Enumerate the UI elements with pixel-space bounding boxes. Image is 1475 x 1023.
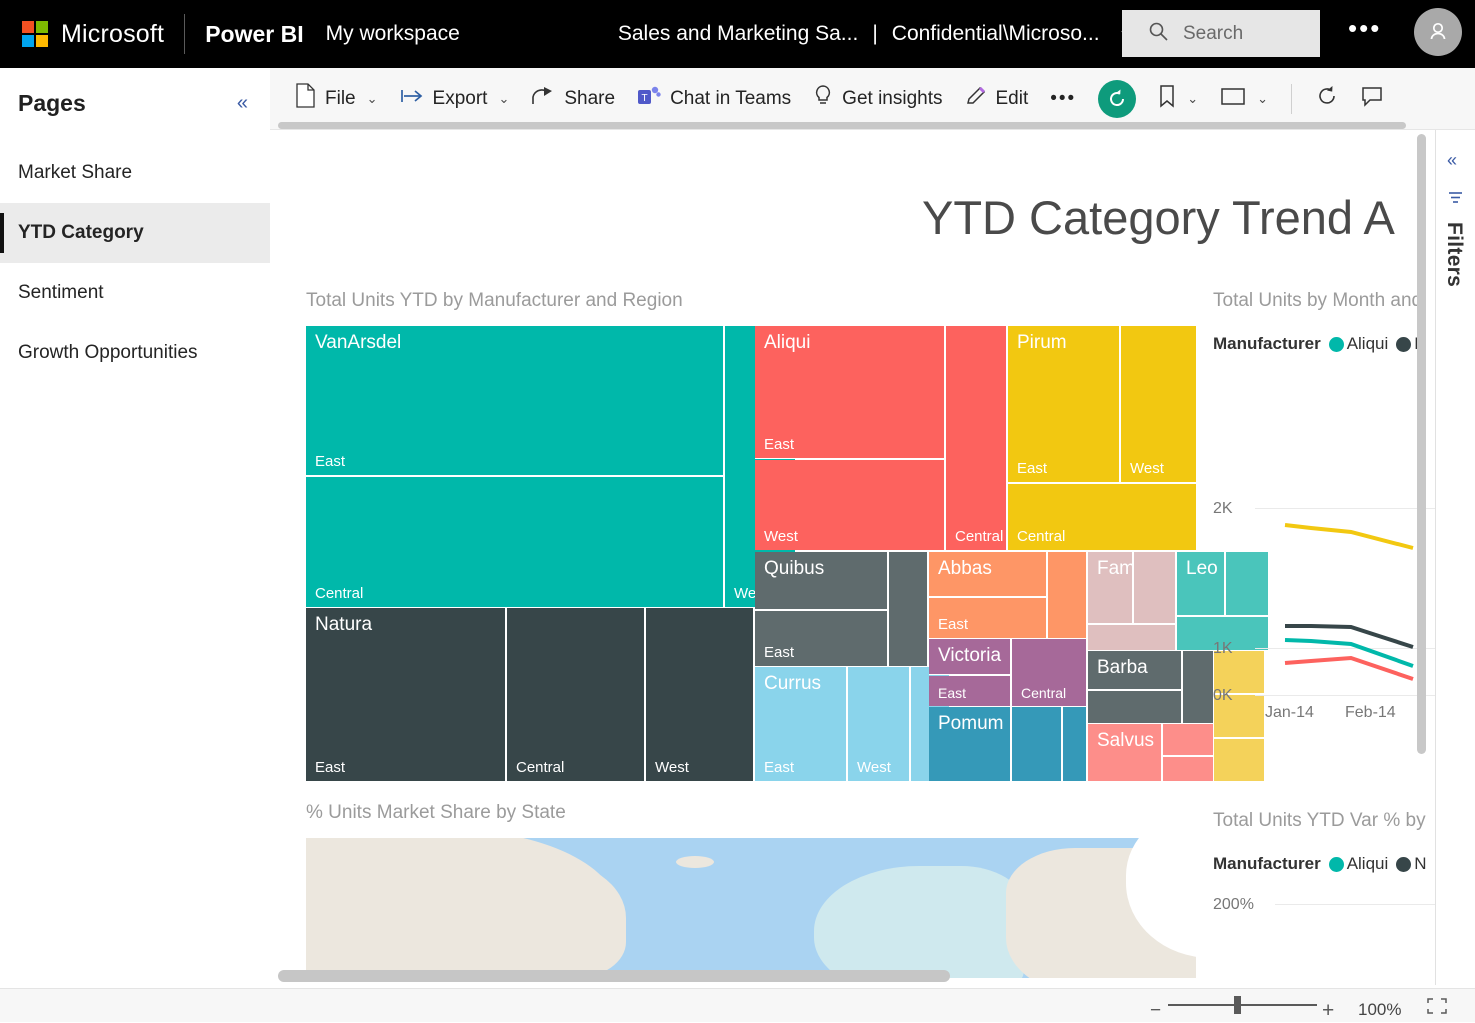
treemap-cell-fama-a[interactable]: Fama <box>1088 552 1133 624</box>
microsoft-brand-label: Microsoft <box>61 20 164 49</box>
treemap-cell-barba-a[interactable]: Barba <box>1088 651 1182 690</box>
chevron-down-icon[interactable]: ⌄ <box>1257 91 1268 107</box>
reset-button[interactable] <box>1087 68 1147 130</box>
treemap-cell-barba-c[interactable] <box>1183 651 1213 723</box>
pages-title: Pages <box>18 90 86 117</box>
treemap-cell-abbas-top[interactable]: Abbas <box>929 552 1047 597</box>
file-label: File <box>325 88 356 110</box>
search-input[interactable]: Search <box>1122 10 1320 57</box>
view-mode-button[interactable]: ⌄ <box>1209 68 1279 130</box>
treemap-cell-quibus-top[interactable]: Quibus <box>755 552 888 610</box>
treemap-group-label: Fama <box>1097 558 1133 580</box>
bookmark-icon <box>1158 84 1176 114</box>
brand-divider <box>184 14 185 54</box>
top-more-options-button[interactable]: ••• <box>1348 22 1381 34</box>
treemap-cell-salvus-b[interactable] <box>1163 724 1213 756</box>
treemap-cell-victoria-east[interactable]: East <box>929 676 1011 706</box>
view-rectangle-icon <box>1220 85 1246 113</box>
treemap-cell-natura-west[interactable]: West <box>646 608 754 781</box>
treemap-region-label: East <box>938 616 968 633</box>
treemap-cell-pirum-west[interactable]: West <box>1121 326 1196 483</box>
treemap-cell-natura-central[interactable]: Central <box>507 608 645 781</box>
gridline-200pct <box>1275 904 1435 905</box>
treemap-group-label: Currus <box>764 673 821 695</box>
zoom-out-button[interactable]: − <box>1150 1000 1161 1022</box>
refresh-icon <box>1315 84 1339 114</box>
legend-item-aliqui[interactable]: Aliqui <box>1329 854 1389 874</box>
share-button[interactable]: Share <box>520 68 626 130</box>
treemap-cell-vanarsdel-east[interactable]: VanArsdel East <box>306 326 724 476</box>
landmass-island <box>676 856 714 868</box>
export-icon <box>400 87 424 111</box>
edit-button[interactable]: Edit <box>954 68 1040 130</box>
y-axis-tick-200pct: 200% <box>1213 896 1254 914</box>
treemap-plot[interactable]: VanArsdel East Central West Natura East … <box>306 326 1196 781</box>
toolbar-divider <box>1291 84 1292 114</box>
treemap-region-label: Central <box>1017 528 1065 545</box>
sidebar-item-sentiment[interactable]: Sentiment <box>0 263 270 323</box>
teams-icon: T <box>637 85 661 113</box>
treemap-cell-vanarsdel-central[interactable]: Central <box>306 477 724 607</box>
treemap-region-label: West <box>1130 460 1164 477</box>
treemap-cell-quibus-east[interactable]: East <box>755 611 888 666</box>
treemap-region-label: East <box>1017 460 1047 477</box>
treemap-group-label: VanArsdel <box>315 332 401 354</box>
treemap-cell-abbas-right[interactable] <box>1048 552 1086 638</box>
treemap-cell-currus-west[interactable]: West <box>848 667 910 781</box>
treemap-region-label: East <box>764 644 794 661</box>
treemap-region-label: East <box>764 436 794 453</box>
edit-label: Edit <box>996 88 1029 110</box>
line-chart-series <box>1213 370 1435 710</box>
filters-panel: « Filters <box>1435 130 1475 985</box>
treemap-region-label: East <box>938 685 966 701</box>
pages-header: Pages « <box>0 68 270 117</box>
sidebar-item-label: Market Share <box>18 162 132 184</box>
variance-chart-visual[interactable]: Total Units YTD Var % by Manufacturer Al… <box>1213 810 1435 948</box>
report-page: YTD Category Trend A Total Units YTD by … <box>288 142 1418 985</box>
map-title: % Units Market Share by State <box>306 802 1196 824</box>
map-plot[interactable] <box>306 838 1196 978</box>
pages-list: Market Share YTD Category Sentiment Grow… <box>0 143 270 383</box>
page-title: YTD Category Trend A <box>922 190 1395 245</box>
treemap-visual[interactable]: Total Units YTD by Manufacturer and Regi… <box>306 290 1196 781</box>
get-insights-label: Get insights <box>842 88 942 110</box>
share-label: Share <box>564 88 615 110</box>
refresh-button[interactable] <box>1304 68 1350 130</box>
treemap-cell-natura-east[interactable]: Natura East <box>306 608 506 781</box>
treemap-cell-pomum-a[interactable]: Pomum <box>929 707 1011 781</box>
microsoft-logo-icon <box>22 21 48 47</box>
get-insights-button[interactable]: Get insights <box>802 68 953 130</box>
x-axis-tick-jan14: Jan-14 <box>1265 704 1314 722</box>
treemap-cell-pirum-east[interactable]: Pirum East <box>1008 326 1120 483</box>
legend-item-label: Aliqui <box>1347 854 1389 874</box>
x-axis-tick-feb14: Feb-14 <box>1345 704 1396 722</box>
fit-to-page-button[interactable] <box>1426 997 1448 1015</box>
treemap-group-label: Victoria <box>938 645 1001 667</box>
pencil-icon <box>965 85 987 113</box>
treemap-region-label: East <box>315 759 345 776</box>
legend-swatch-icon <box>1329 337 1344 352</box>
treemap-region-label: Central <box>1021 685 1066 701</box>
export-menu-button[interactable]: Export ⌄ <box>389 68 521 130</box>
landmass-alaska <box>814 866 1024 978</box>
zoom-in-button[interactable]: + <box>1322 999 1334 1023</box>
line-chart-plot[interactable]: 2K 1K 0K Jan-14 Feb-14 <box>1213 370 1435 680</box>
chat-in-teams-label: Chat in Teams <box>670 88 791 110</box>
svg-text:T: T <box>642 93 648 104</box>
variance-chart-plot[interactable]: 200% <box>1213 888 1435 948</box>
treemap-group-label: Pirum <box>1017 332 1067 354</box>
treemap-cell-quibus-right[interactable] <box>889 552 927 666</box>
treemap-cell-fama-b[interactable] <box>1134 552 1175 624</box>
legend-item-label: N <box>1414 854 1426 874</box>
treemap-cell-pomum-c[interactable] <box>1063 707 1086 781</box>
report-toolbar: File ⌄ Export ⌄ Share T Chat in Teams Ge… <box>270 68 1475 130</box>
bookmarks-button[interactable]: ⌄ <box>1147 68 1209 130</box>
canvas-vertical-scrollbar[interactable] <box>1417 134 1426 754</box>
treemap-region-label: Central <box>315 585 363 602</box>
treemap-group-label: Salvus <box>1097 730 1154 752</box>
treemap-cell-fama-c[interactable] <box>1088 625 1175 650</box>
treemap-cell-aliqui-east[interactable]: Aliqui East <box>755 326 945 459</box>
sidebar-item-label: YTD Category <box>18 222 144 244</box>
treemap-cell-salvus-a[interactable]: Salvus <box>1088 724 1162 781</box>
toolbar-scrollbar[interactable] <box>278 122 1406 129</box>
zoom-level-label: 100% <box>1358 1000 1401 1020</box>
treemap-cell-aliqui-central[interactable]: Central <box>946 326 1006 550</box>
search-placeholder: Search <box>1183 23 1243 45</box>
export-label: Export <box>433 88 488 110</box>
treemap-cell-pomum-b[interactable] <box>1012 707 1062 781</box>
treemap-region-label: Central <box>955 528 1003 545</box>
sidebar-item-market-share[interactable]: Market Share <box>0 143 270 203</box>
filter-icon <box>1448 190 1465 210</box>
title-separator: | <box>872 22 877 46</box>
map-visual[interactable]: % Units Market Share by State <box>306 802 1196 978</box>
top-navigation-bar: Microsoft Power BI My workspace Sales an… <box>0 0 1475 68</box>
treemap-region-label: East <box>764 759 794 776</box>
treemap-cell-victoria-central[interactable]: Central <box>1012 639 1086 706</box>
more-dots-icon: ••• <box>1050 88 1076 110</box>
treemap-region-label: West <box>764 528 798 545</box>
variance-chart-legend[interactable]: Manufacturer Aliqui N <box>1213 854 1435 874</box>
treemap-group-label: Abbas <box>938 558 992 580</box>
line-chart-visual[interactable]: Total Units by Month and Manufacturer Al… <box>1213 290 1435 680</box>
pages-sidebar: Pages « Market Share YTD Category Sentim… <box>0 68 270 1022</box>
treemap-group-label: Barba <box>1097 657 1148 679</box>
zoom-slider-thumb[interactable] <box>1234 996 1241 1014</box>
treemap-cell-pirum-central[interactable]: Central <box>1008 484 1196 550</box>
legend-swatch-icon <box>1396 857 1411 872</box>
report-title-label[interactable]: Sales and Marketing Sa... <box>618 22 858 46</box>
treemap-region-label: West <box>655 759 689 776</box>
toolbar-more-options-button[interactable]: ••• <box>1039 68 1087 130</box>
treemap-group-label: Pomum <box>938 713 1003 735</box>
line-chart-legend[interactable]: Manufacturer Aliqui N <box>1213 334 1435 354</box>
treemap-title: Total Units YTD by Manufacturer and Regi… <box>306 290 1196 312</box>
legend-item-label: Aliqui <box>1347 334 1389 354</box>
zoom-slider-track[interactable] <box>1168 1004 1317 1006</box>
variance-chart-title: Total Units YTD Var % by <box>1213 810 1435 832</box>
sidebar-item-label: Growth Opportunities <box>18 342 198 364</box>
legend-item-aliqui[interactable]: Aliqui <box>1329 334 1389 354</box>
treemap-cell-abbas-east[interactable]: East <box>929 598 1047 638</box>
sidebar-item-ytd-category[interactable]: YTD Category <box>0 203 270 263</box>
treemap-cell-salvus-c[interactable] <box>1163 757 1213 781</box>
legend-title: Manufacturer <box>1213 854 1321 874</box>
sidebar-item-label: Sentiment <box>18 282 104 304</box>
line-chart-title: Total Units by Month and <box>1213 290 1435 312</box>
canvas-horizontal-scrollbar[interactable] <box>278 970 950 982</box>
treemap-group-label: Natura <box>315 614 372 636</box>
lightbulb-icon <box>813 84 833 114</box>
filters-label: Filters <box>1442 222 1466 287</box>
search-icon <box>1148 21 1169 47</box>
user-avatar[interactable] <box>1414 8 1462 56</box>
treemap-cell-extra-c[interactable] <box>1214 739 1264 781</box>
legend-title: Manufacturer <box>1213 334 1321 354</box>
share-icon <box>531 86 555 112</box>
expand-filters-button[interactable]: « <box>1447 150 1457 171</box>
chat-in-teams-button[interactable]: T Chat in Teams <box>626 68 802 130</box>
treemap-region-label: Central <box>516 759 564 776</box>
report-canvas: YTD Category Trend A Total Units YTD by … <box>270 130 1435 985</box>
legend-swatch-icon <box>1396 337 1411 352</box>
file-icon <box>295 83 316 114</box>
treemap-cell-aliqui-west[interactable]: West <box>755 460 945 550</box>
treemap-cell-barba-b[interactable] <box>1088 691 1182 723</box>
sidebar-item-growth-opportunities[interactable]: Growth Opportunities <box>0 323 270 383</box>
treemap-region-label: East <box>315 453 345 470</box>
treemap-group-label: Quibus <box>764 558 824 580</box>
chevron-down-icon[interactable]: ⌄ <box>498 91 509 107</box>
legend-swatch-icon <box>1329 857 1344 872</box>
legend-item-natura[interactable]: N <box>1396 854 1426 874</box>
treemap-group-label: Aliqui <box>764 332 810 354</box>
treemap-region-label: West <box>857 759 891 776</box>
collapse-sidebar-button[interactable]: « <box>237 92 248 115</box>
powerbi-home-link[interactable]: Power BI <box>205 21 303 48</box>
chevron-down-icon[interactable]: ⌄ <box>1187 91 1198 107</box>
chevron-down-icon[interactable]: ⌄ <box>367 91 378 107</box>
file-menu-button[interactable]: File ⌄ <box>284 68 389 130</box>
reset-icon <box>1098 80 1136 118</box>
workspace-link[interactable]: My workspace <box>326 22 460 46</box>
treemap-cell-victoria-top[interactable]: Victoria <box>929 639 1011 675</box>
treemap-cell-currus-east[interactable]: Currus East <box>755 667 847 781</box>
comment-icon <box>1361 85 1383 113</box>
sensitivity-label[interactable]: Confidential\Microso... <box>892 22 1100 46</box>
comments-button[interactable] <box>1350 68 1394 130</box>
